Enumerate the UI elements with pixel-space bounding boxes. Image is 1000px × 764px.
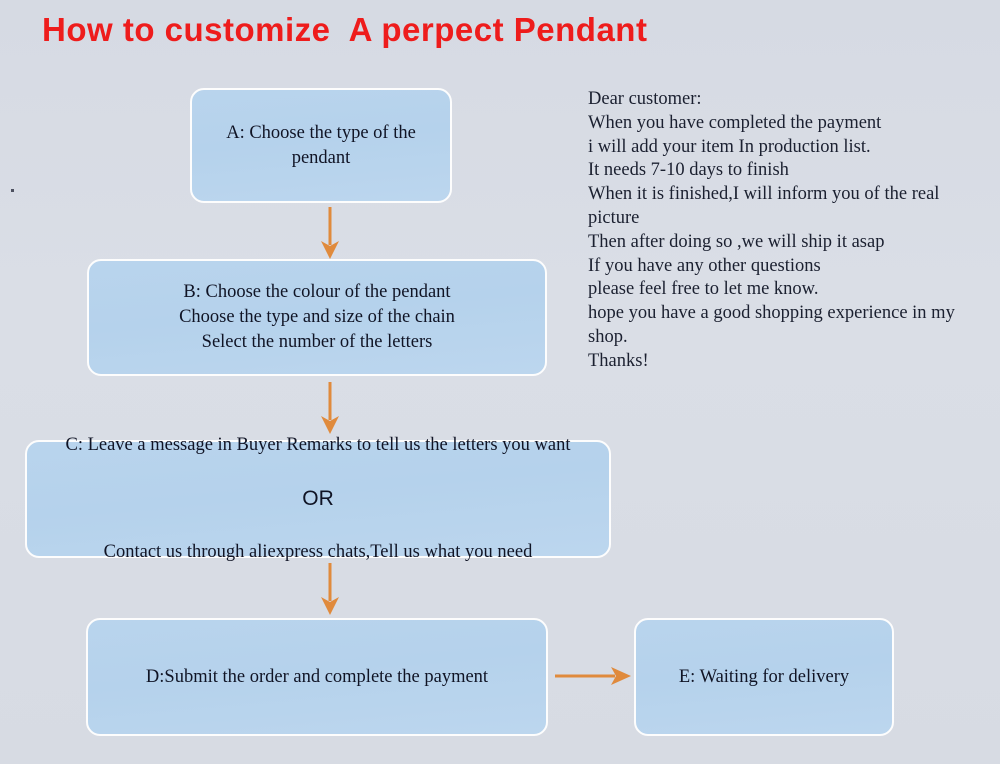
flow-step-c-or: OR (65, 485, 570, 513)
page-title: How to customize A perpect Pendant (42, 11, 647, 49)
flow-step-e-label: E: Waiting for delivery (679, 665, 849, 690)
flow-step-c-line1: C: Leave a message in Buyer Remarks to t… (65, 433, 570, 458)
flow-step-b-label: B: Choose the colour of the pendant Choo… (179, 280, 455, 355)
flow-step-a-label: A: Choose the type of the pendant (226, 121, 416, 171)
flow-step-a: A: Choose the type of the pendant (190, 88, 452, 203)
infographic-canvas: How to customize A perpect Pendant A: Ch… (0, 0, 1000, 764)
customer-note: Dear customer: When you have completed t… (588, 88, 992, 374)
flow-step-e: E: Waiting for delivery (634, 618, 894, 736)
flow-step-c: C: Leave a message in Buyer Remarks to t… (25, 440, 611, 558)
stray-speck (11, 189, 14, 192)
arrow-a-to-b-icon (314, 205, 346, 261)
arrow-c-to-d-icon (314, 561, 346, 617)
arrow-d-to-e-icon (553, 660, 633, 692)
flow-step-b: B: Choose the colour of the pendant Choo… (87, 259, 547, 376)
flow-step-d-label: D:Submit the order and complete the paym… (146, 665, 488, 690)
flow-step-d: D:Submit the order and complete the paym… (86, 618, 548, 736)
